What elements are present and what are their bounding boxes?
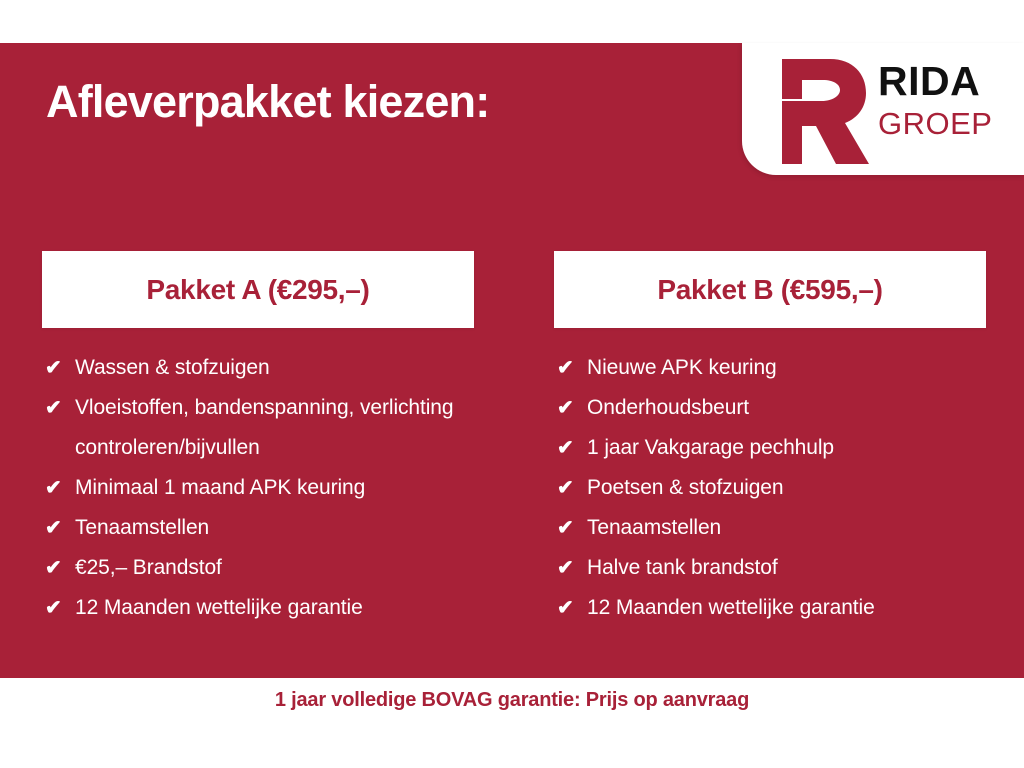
list-item: ✔1 jaar Vakgarage pechhulp [554,428,986,468]
check-icon: ✔ [554,348,587,388]
list-item: ✔Onderhoudsbeurt [554,388,986,428]
check-icon: ✔ [42,348,75,388]
list-item-label: 1 jaar Vakgarage pechhulp [587,428,986,468]
footer-bar: 1 jaar volledige BOVAG garantie: Prijs o… [0,678,1024,768]
list-item: ✔Minimaal 1 maand APK keuring [42,468,474,508]
package-b-title: Pakket B (€595,–) [657,274,882,306]
list-item: ✔12 Maanden wettelijke garantie [554,588,986,628]
list-item-label: Poetsen & stofzuigen [587,468,986,508]
packages-container: Pakket A (€295,–) ✔Wassen & stofzuigen✔V… [0,0,1024,768]
package-a-title: Pakket A (€295,–) [146,274,369,306]
list-item: ✔Halve tank brandstof [554,548,986,588]
package-b-feature-list: ✔Nieuwe APK keuring✔Onderhoudsbeurt✔1 ja… [554,328,986,628]
list-item-label: Tenaamstellen [587,508,986,548]
list-item-label: 12 Maanden wettelijke garantie [587,588,986,628]
footer-note: 1 jaar volledige BOVAG garantie: Prijs o… [0,689,1024,712]
list-item-label: Onderhoudsbeurt [587,388,986,428]
list-item-label: Wassen & stofzuigen [75,348,474,388]
check-icon: ✔ [554,588,587,628]
check-icon: ✔ [554,548,587,588]
check-icon: ✔ [42,388,75,428]
list-item: ✔Poetsen & stofzuigen [554,468,986,508]
package-b-header: Pakket B (€595,–) [554,251,986,328]
check-icon: ✔ [554,508,587,548]
slide-root: Afleverpakket kiezen: RIDA GROEP Pakket … [0,0,1024,768]
check-icon: ✔ [42,508,75,548]
list-item: ✔Tenaamstellen [554,508,986,548]
list-item: ✔Wassen & stofzuigen [42,348,474,388]
check-icon: ✔ [42,548,75,588]
check-icon: ✔ [554,388,587,428]
package-card-a[interactable]: Pakket A (€295,–) ✔Wassen & stofzuigen✔V… [42,251,474,628]
package-a-feature-list: ✔Wassen & stofzuigen✔Vloeistoffen, bande… [42,328,474,628]
check-icon: ✔ [42,588,75,628]
list-item-label: Halve tank brandstof [587,548,986,588]
list-item: ✔€25,– Brandstof [42,548,474,588]
list-item-label: €25,– Brandstof [75,548,474,588]
package-card-b[interactable]: Pakket B (€595,–) ✔Nieuwe APK keuring✔On… [554,251,986,628]
list-item-label: Minimaal 1 maand APK keuring [75,468,474,508]
list-item: ✔12 Maanden wettelijke garantie [42,588,474,628]
package-a-header: Pakket A (€295,–) [42,251,474,328]
list-item-label: Nieuwe APK keuring [587,348,986,388]
list-item: ✔Nieuwe APK keuring [554,348,986,388]
check-icon: ✔ [42,468,75,508]
list-item-label: Vloeistoffen, bandenspanning, verlichtin… [75,388,474,468]
list-item-label: Tenaamstellen [75,508,474,548]
list-item: ✔Vloeistoffen, bandenspanning, verlichti… [42,388,474,468]
check-icon: ✔ [554,428,587,468]
list-item-label: 12 Maanden wettelijke garantie [75,588,474,628]
list-item: ✔Tenaamstellen [42,508,474,548]
check-icon: ✔ [554,468,587,508]
